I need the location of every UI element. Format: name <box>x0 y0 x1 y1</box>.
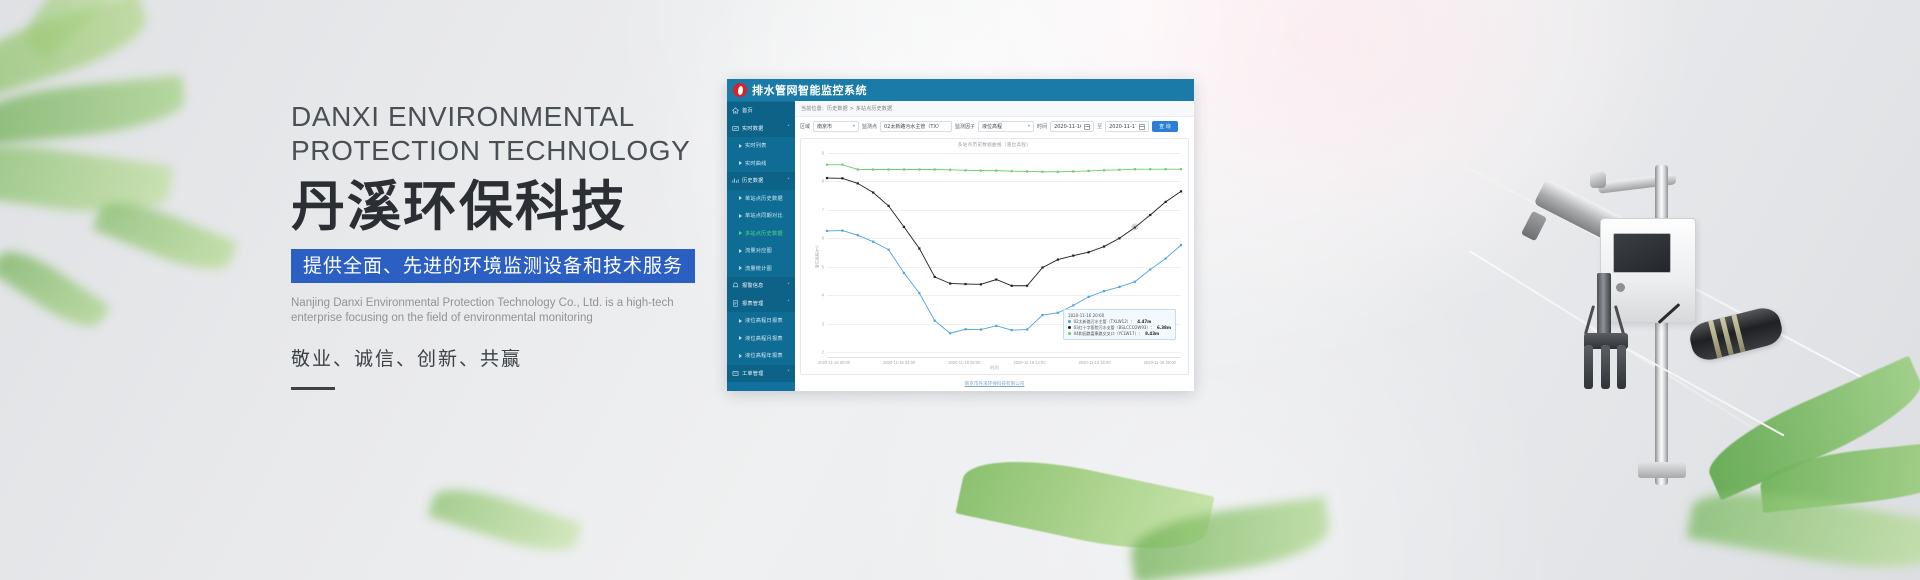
home-icon <box>732 107 739 114</box>
sensor-probe <box>1617 345 1626 389</box>
chart-y-tick: 9 <box>822 151 824 156</box>
caret-icon: ˄ <box>787 300 790 306</box>
monitoring-pole <box>1655 165 1668 485</box>
hero-english-line-2: PROTECTION TECHNOLOGY <box>291 134 711 168</box>
sidebar-label: 流量统计图 <box>745 265 772 272</box>
sidebar-label: 流量对应图 <box>745 247 772 254</box>
chart-point <box>964 169 966 171</box>
filter-toolbar: 区域 南京市 ▾ 监测点 02太新路污水主管（TX） 监测因子 液位高程 ▾ 时… <box>795 117 1194 136</box>
chart-y-tick: 8 <box>822 179 824 184</box>
chart-point <box>1149 268 1151 270</box>
chart-point <box>1072 304 1074 306</box>
time-label: 时间 <box>1037 123 1047 130</box>
leaf-decoration <box>92 190 238 281</box>
site-label: 监测点 <box>862 123 877 130</box>
chart-point <box>903 226 905 228</box>
sidebar-label: 单站点同期对比 <box>745 212 783 219</box>
area-label: 区域 <box>800 123 810 130</box>
calendar-icon <box>1139 124 1145 130</box>
chart-point <box>1026 285 1028 287</box>
chart-point <box>841 177 843 179</box>
chart-point <box>980 170 982 172</box>
chart-point <box>1134 281 1136 283</box>
series-color-dot <box>1068 326 1071 329</box>
leaf-decoration <box>0 75 187 147</box>
page-title: 丹溪环保科技 <box>291 176 711 238</box>
equipment-photo-group <box>1480 30 1920 480</box>
date-end-value: 2020-11-17 <box>1109 124 1136 130</box>
sidebar-item-level-daily-report[interactable]: 液位高程日报表 <box>727 312 795 330</box>
date-end-input[interactable]: 2020-11-17 <box>1105 121 1149 132</box>
chart-point <box>841 230 843 232</box>
leaf-decoration <box>427 478 582 562</box>
chart-point <box>1041 314 1043 316</box>
chart-point <box>1057 259 1059 261</box>
chart-y-tick: 4 <box>822 293 824 298</box>
ticket-icon <box>732 370 739 377</box>
chart-y-tick: 2 <box>822 350 824 355</box>
chart-point <box>887 168 889 170</box>
date-start-value: 2020-11-16 <box>1054 124 1081 130</box>
sidebar-label: 多站点历史数据 <box>745 230 783 237</box>
sidebar-label: 报表管理 <box>742 300 764 307</box>
chart-point <box>918 168 920 170</box>
hero-divider <box>291 387 335 390</box>
realtime-icon <box>732 125 739 132</box>
chart-point <box>964 283 966 285</box>
chart-point <box>1103 245 1105 247</box>
hero-slogan: 敬业、诚信、创新、共赢 <box>291 344 711 371</box>
sidebar-item-realtime-list[interactable]: 实时列表 <box>727 137 795 155</box>
app-content: 当前位置：历史数据 > 多站点历史数据 区域 南京市 ▾ 监测点 02太新路污水… <box>795 101 1194 391</box>
factor-label: 监测因子 <box>955 123 975 130</box>
chart-point <box>1011 170 1013 172</box>
chart-point <box>1134 168 1136 170</box>
chart-line <box>827 165 1181 172</box>
chart-point <box>1180 244 1182 246</box>
probe-band <box>1708 320 1722 358</box>
chart-point <box>1041 171 1043 173</box>
chart-point <box>1165 168 1167 170</box>
chart-line <box>827 178 1181 286</box>
chart-point <box>826 230 828 232</box>
chart-point <box>1057 312 1059 314</box>
sidebar-label: 实时曲线 <box>745 160 767 167</box>
sidebar-item-single-site-compare[interactable]: 单站点同期对比 <box>727 207 795 225</box>
chart-y-tick: 5 <box>822 264 824 269</box>
sidebar-item-single-site-history[interactable]: 单站点历史数据 <box>727 190 795 208</box>
sidebar-item-flow-correspondence[interactable]: 流量对应图 <box>727 242 795 260</box>
multi-parameter-sensor <box>1580 273 1632 393</box>
chart-point <box>918 292 920 294</box>
chart-point <box>980 283 982 285</box>
chart-point <box>1088 296 1090 298</box>
chart-point <box>1011 285 1013 287</box>
sidebar-label: 液位高程月报表 <box>745 335 783 342</box>
sidebar-item-home[interactable]: 首页 <box>727 102 795 120</box>
sidebar-label: 单站点历史数据 <box>745 195 783 202</box>
chart-x-axis-label: 时间 <box>801 365 1188 371</box>
chart-point <box>995 170 997 172</box>
content-footer: 南京市丹溪环保科技有限公司 <box>795 379 1194 391</box>
chart-point <box>1072 255 1074 257</box>
calendar-icon <box>1084 124 1090 130</box>
app-header: 排水管网智能监控系统 <box>727 79 1194 101</box>
chart-title: 多站点历史数据曲线（液位高程） <box>801 142 1188 148</box>
report-icon <box>732 300 739 307</box>
chart-point <box>949 282 951 284</box>
chart-point <box>1072 170 1074 172</box>
chart-point <box>934 168 936 170</box>
sidebar-item-realtime-data[interactable]: 实时数据 ˄ <box>727 120 795 138</box>
chart-point <box>1165 201 1167 203</box>
area-select[interactable]: 南京市 ▾ <box>813 121 859 132</box>
chart-point <box>1149 168 1151 170</box>
chart-point <box>964 328 966 330</box>
camera-mount-joint <box>1590 172 1606 188</box>
sidebar-label: 液位高程年报表 <box>745 352 783 359</box>
sidebar-item-work-order[interactable]: 工单管理 ˅ <box>727 365 795 383</box>
chart-icon <box>732 177 739 184</box>
chart-point <box>1165 257 1167 259</box>
hero-english-line-1: DANXI ENVIRONMENTAL <box>291 100 711 134</box>
factor-value: 液位高程 <box>982 123 1002 130</box>
query-button[interactable]: 查 询 <box>1152 121 1178 132</box>
chart-point <box>934 276 936 278</box>
chart-point <box>857 234 859 236</box>
sidebar-item-multi-site-history[interactable]: 多站点历史数据 <box>727 225 795 243</box>
breadcrumb: 当前位置：历史数据 > 多站点历史数据 <box>795 101 1194 117</box>
chart-point <box>1088 251 1090 253</box>
tooltip-row: 04和园路富康路交叉口（YCLW17）：8.43m <box>1068 331 1171 337</box>
caret-icon: ˄ <box>787 178 790 184</box>
sensor-fork <box>1584 305 1595 335</box>
hero-banner: DANXI ENVIRONMENTAL PROTECTION TECHNOLOG… <box>0 0 1920 580</box>
leaf-decoration <box>0 240 110 339</box>
app-sidebar[interactable]: 首页 实时数据 ˄ 实时列表 实时曲线 历史数据 ˄ 单站点历史数据 单站点同期… <box>727 101 795 391</box>
sidebar-item-level-monthly-report[interactable]: 液位高程月报表 <box>727 330 795 348</box>
chart-point <box>949 169 951 171</box>
area-value: 南京市 <box>817 123 832 130</box>
sensor-fork <box>1614 305 1625 335</box>
sidebar-label: 首页 <box>742 107 753 114</box>
chevron-down-icon: ▾ <box>1028 124 1030 129</box>
cabinet-display <box>1613 233 1671 273</box>
chart-card: 多站点历史数据曲线（液位高程） 液位高程(m) 98765432 2020-11… <box>800 138 1189 375</box>
chart-point <box>918 247 920 249</box>
chart-point <box>826 177 828 179</box>
chart-y-tick: 6 <box>822 236 824 241</box>
chart-point <box>1180 190 1182 192</box>
chart-point <box>1103 169 1105 171</box>
pole-base <box>1638 462 1686 478</box>
chart-highlight-marker <box>1131 224 1138 231</box>
factor-select[interactable]: 液位高程 ▾ <box>978 121 1034 132</box>
sensor-probe <box>1584 345 1593 389</box>
chart-point <box>826 164 828 166</box>
chart-point <box>1118 286 1120 288</box>
sensor-probe <box>1601 345 1610 389</box>
chart-point <box>949 332 951 334</box>
tooltip-series-value: 8.43m <box>1145 331 1159 337</box>
hero-description: Nanjing Danxi Environmental Protection T… <box>291 296 681 326</box>
monitoring-app-window: 排水管网智能监控系统 首页 实时数据 ˄ 实时列表 实时曲线 <box>727 79 1194 391</box>
chart-tooltip: 2020-11-16 20:0002太新路污水主管（TXLW12）：4.47m0… <box>1063 309 1176 340</box>
chart-x-axis: 2020-11-16 00:002020-11-16 04:002020-11-… <box>827 357 1181 358</box>
chart-point <box>1088 170 1090 172</box>
chart-point <box>903 168 905 170</box>
chart-point <box>1149 214 1151 216</box>
chart-point <box>980 328 982 330</box>
sidebar-label: 工单管理 <box>742 370 764 377</box>
chart-point <box>995 325 997 327</box>
chart-point <box>872 191 874 193</box>
bell-icon <box>732 282 739 289</box>
chart-y-axis-label: 液位高程(m) <box>815 245 821 268</box>
date-start-input[interactable]: 2020-11-16 <box>1050 121 1094 132</box>
series-color-dot <box>1068 332 1071 335</box>
chart-point <box>872 168 874 170</box>
chart-point <box>934 320 936 322</box>
chart-point <box>1026 328 1028 330</box>
sidebar-item-history-data[interactable]: 历史数据 ˄ <box>727 172 795 190</box>
chart-point <box>903 272 905 274</box>
camera-lens <box>1521 211 1547 241</box>
hero-tagline-banner: 提供全面、先进的环境监测设备和技术服务 <box>291 249 695 283</box>
caret-icon: ˅ <box>787 370 790 376</box>
chart-point <box>1180 168 1182 170</box>
company-footer-link[interactable]: 南京市丹溪环保科技有限公司 <box>795 381 1194 387</box>
submersible-probe <box>1687 304 1785 363</box>
chart-point <box>1118 237 1120 239</box>
chart-point <box>857 182 859 184</box>
danxi-logo-icon <box>733 83 747 97</box>
chart-point <box>857 168 859 170</box>
sidebar-label: 实时列表 <box>745 142 767 149</box>
hero-text-block: DANXI ENVIRONMENTAL PROTECTION TECHNOLOG… <box>291 100 711 390</box>
chart-point <box>841 164 843 166</box>
site-value: 02太新路污水主管（TX） <box>884 123 942 130</box>
chart-point <box>872 241 874 243</box>
sidebar-label: 液位高程日报表 <box>745 317 783 324</box>
chart-y-tick: 3 <box>822 321 824 326</box>
app-title: 排水管网智能监控系统 <box>752 82 867 98</box>
sidebar-item-alarm-info[interactable]: 报警信息 ˅ <box>727 277 795 295</box>
sidebar-label: 报警信息 <box>742 282 764 289</box>
chart-y-tick: 7 <box>822 207 824 212</box>
caret-icon: ˄ <box>787 125 790 131</box>
tooltip-series-name: 04和园路富康路交叉口（YCLW17）： <box>1074 331 1143 337</box>
chart-point <box>1118 169 1120 171</box>
chart-point <box>1103 290 1105 292</box>
sidebar-item-flow-statistics[interactable]: 流量统计图 <box>727 260 795 278</box>
chart-point <box>995 278 997 280</box>
sidebar-item-report-management[interactable]: 报表管理 ˄ <box>727 295 795 313</box>
chart-gridline <box>827 352 1181 353</box>
chevron-down-icon: ▾ <box>853 124 855 129</box>
probe-band <box>1720 317 1734 355</box>
sidebar-item-level-yearly-report[interactable]: 液位高程年报表 <box>727 347 795 365</box>
caret-icon: ˅ <box>787 283 790 289</box>
sidebar-label: 历史数据 <box>742 177 764 184</box>
probe-band <box>1731 314 1745 352</box>
chart-point <box>887 249 889 251</box>
site-select[interactable]: 02太新路污水主管（TX） <box>880 121 952 132</box>
chart-point <box>1026 170 1028 172</box>
series-color-dot <box>1068 320 1071 323</box>
date-range-separator: 至 <box>1097 123 1102 130</box>
sidebar-item-realtime-curve[interactable]: 实时曲线 <box>727 155 795 173</box>
chart-point <box>1011 329 1013 331</box>
chart-point <box>1041 266 1043 268</box>
sensor-barrel <box>1597 273 1611 337</box>
chart-point <box>887 205 889 207</box>
chart-point <box>1057 171 1059 173</box>
sidebar-label: 实时数据 <box>742 125 764 132</box>
